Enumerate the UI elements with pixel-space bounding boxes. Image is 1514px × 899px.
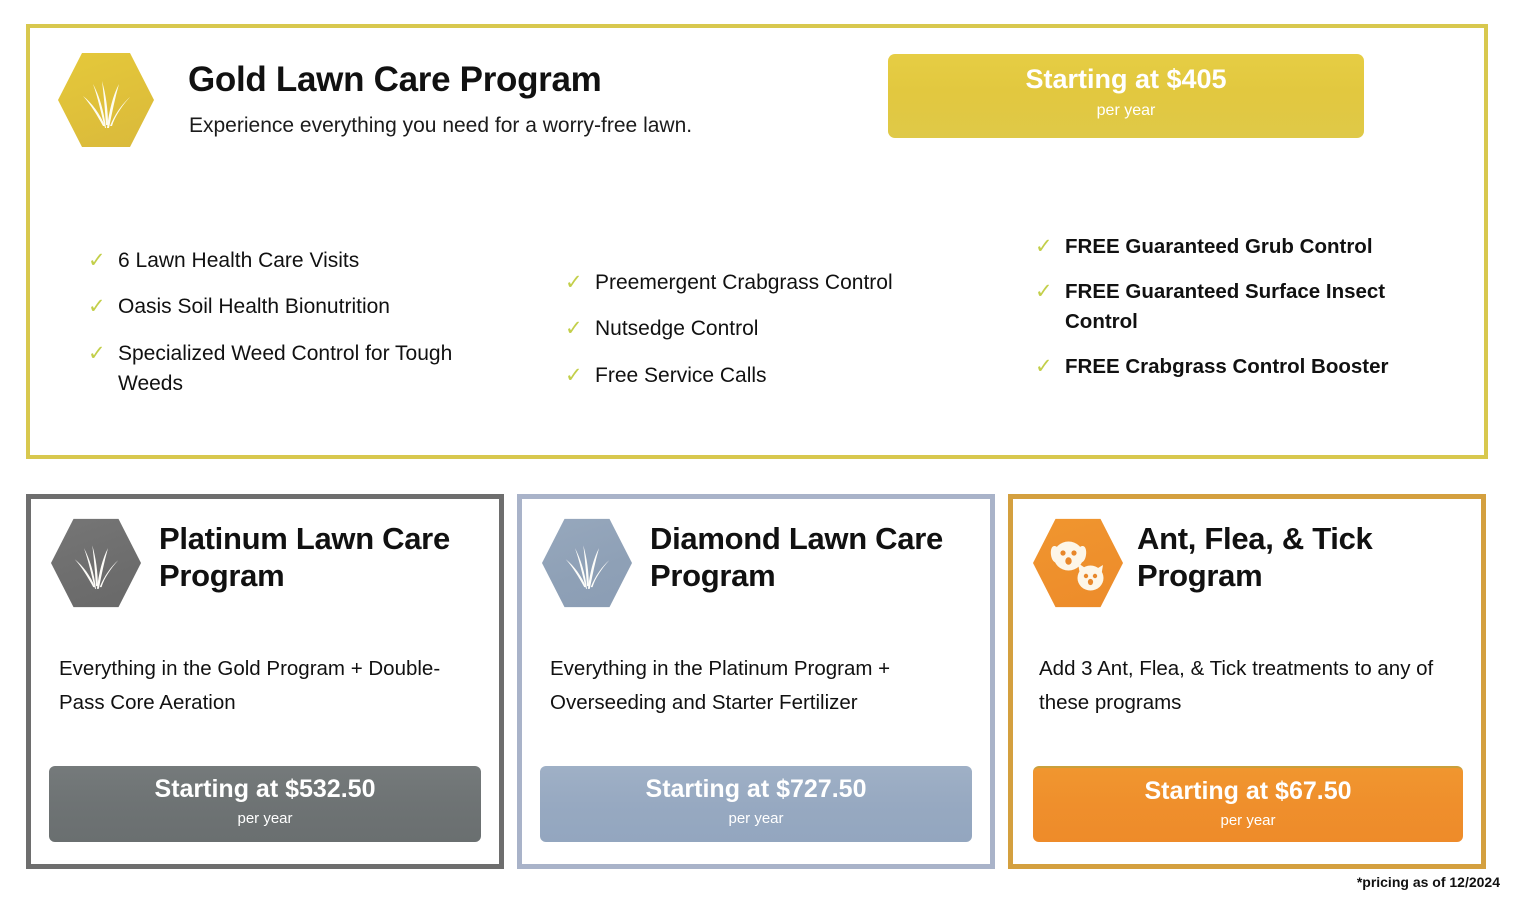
check-icon: ✓ [565,314,595,344]
gold-feature-column-2: ✓ Preemergent Crabgrass Control ✓ Nutsed… [565,268,995,407]
feature-label: Oasis Soil Health Bionutrition [118,292,390,322]
feature-item: ✓ Preemergent Crabgrass Control [565,268,995,298]
pet-price: Starting at $67.50 [1033,778,1463,806]
diamond-price-badge[interactable]: Starting at $727.50 per year [540,766,972,842]
card-description: Add 3 Ant, Flea, & Tick treatments to an… [1039,652,1463,720]
grass-hexagon-icon [542,516,632,610]
check-icon: ✓ [1035,277,1065,307]
feature-label: Specialized Weed Control for Tough Weeds [118,339,508,400]
gold-price-badge[interactable]: Starting at $405 per year [888,54,1364,138]
card-header: Platinum Lawn Care Program [31,499,499,619]
gold-price-period: per year [888,102,1364,120]
feature-item: ✓ Nutsedge Control [565,314,995,344]
grass-hexagon-icon [51,516,141,610]
gold-feature-column-1: ✓ 6 Lawn Health Care Visits ✓ Oasis Soil… [88,246,508,416]
check-icon: ✓ [88,339,118,369]
check-icon: ✓ [1035,352,1065,382]
feature-item: ✓ FREE Crabgrass Control Booster [1035,352,1455,382]
card-title: Platinum Lawn Care Program [159,521,479,594]
check-icon: ✓ [565,361,595,391]
platinum-price-badge[interactable]: Starting at $532.50 per year [49,766,481,842]
platinum-price-period: per year [49,810,481,827]
pet-price-badge[interactable]: Starting at $67.50 per year [1033,766,1463,842]
gold-price: Starting at $405 [888,65,1364,95]
card-description: Everything in the Gold Program + Double-… [59,652,483,720]
check-icon: ✓ [1035,232,1065,262]
gold-subtitle: Experience everything you need for a wor… [189,114,692,138]
card-header: Diamond Lawn Care Program [522,499,990,619]
ant-flea-tick-program-card: Ant, Flea, & Tick Program Add 3 Ant, Fle… [1008,494,1486,869]
platinum-program-card: Platinum Lawn Care Program Everything in… [26,494,504,869]
card-description: Everything in the Platinum Program + Ove… [550,652,974,720]
dog-cat-hexagon-icon [1033,516,1123,610]
feature-label: FREE Crabgrass Control Booster [1065,352,1389,382]
pricing-footnote: *pricing as of 12/2024 [1357,874,1500,890]
check-icon: ✓ [88,292,118,322]
diamond-program-card: Diamond Lawn Care Program Everything in … [517,494,995,869]
pet-price-period: per year [1033,812,1463,829]
platinum-price: Starting at $532.50 [49,776,481,804]
feature-label: Nutsedge Control [595,314,758,344]
feature-item: ✓ FREE Guaranteed Surface Insect Control [1035,277,1455,336]
feature-label: FREE Guaranteed Surface Insect Control [1065,277,1455,336]
page-title: Gold Lawn Care Program [188,60,602,100]
feature-label: 6 Lawn Health Care Visits [118,246,359,276]
gold-program-card: Gold Lawn Care Program Experience everyt… [26,24,1488,459]
feature-item: ✓ Free Service Calls [565,361,995,391]
feature-item: ✓ Oasis Soil Health Bionutrition [88,292,508,322]
diamond-price-period: per year [540,810,972,827]
feature-item: ✓ FREE Guaranteed Grub Control [1035,232,1455,262]
feature-label: FREE Guaranteed Grub Control [1065,232,1373,262]
check-icon: ✓ [565,268,595,298]
feature-label: Free Service Calls [595,361,767,391]
card-header: Ant, Flea, & Tick Program [1013,499,1481,619]
card-title: Diamond Lawn Care Program [650,521,970,594]
feature-label: Preemergent Crabgrass Control [595,268,893,298]
grass-hexagon-icon [58,50,154,150]
diamond-price: Starting at $727.50 [540,776,972,804]
gold-feature-column-3: ✓ FREE Guaranteed Grub Control ✓ FREE Gu… [1035,232,1455,397]
feature-item: ✓ Specialized Weed Control for Tough Wee… [88,339,508,400]
check-icon: ✓ [88,246,118,276]
card-title: Ant, Flea, & Tick Program [1137,521,1457,594]
feature-item: ✓ 6 Lawn Health Care Visits [88,246,508,276]
